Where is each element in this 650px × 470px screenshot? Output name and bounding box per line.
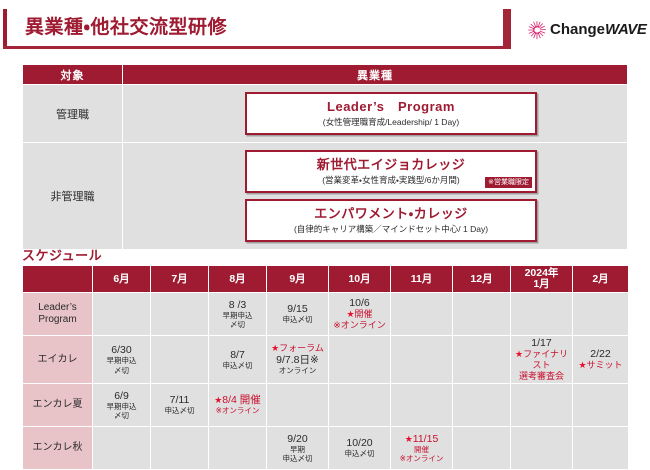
schedule-row-label-3: エンカレ秋	[23, 427, 93, 470]
schedule-col-9: 2月	[573, 266, 629, 293]
schedule-cell-note2: オンライン	[267, 366, 328, 376]
logo-wordmark: ChangeWAVE	[550, 20, 646, 40]
schedule-cell-2-7	[511, 384, 573, 427]
schedule-cell-3-1	[151, 427, 209, 470]
schedule-cell-1-0[interactable]: 6/30早期申込〆切	[93, 336, 151, 384]
schedule-cell-date: 8/7	[209, 349, 266, 361]
schedule-cell-0-0	[93, 293, 151, 336]
star-icon: ★	[271, 343, 279, 353]
schedule-cell-0-5	[391, 293, 453, 336]
schedule-cell-0-8	[573, 293, 629, 336]
schedule-cell-date: ★11/15	[391, 433, 452, 445]
table-header-row: 対象 異業種	[23, 65, 628, 85]
table-row: 管理職 Leader’s Program (女性管理職育成/Leadership…	[23, 85, 628, 143]
star-icon: ★	[515, 349, 523, 359]
schedule-cell-note: ※オンライン	[209, 406, 266, 416]
header-underline	[3, 46, 508, 49]
schedule-cell-note: 早期申込〆切	[267, 445, 328, 464]
logo-text-change: Change	[550, 21, 605, 38]
schedule-cell-note: ★開催※オンライン	[329, 309, 390, 331]
schedule-cell-2-8	[573, 384, 629, 427]
slide-root: 異業種・他社交流型研修	[0, 0, 650, 469]
schedule-cell-0-6	[453, 293, 511, 336]
schedule-cell-date: 9/7.8日※	[267, 354, 328, 366]
schedule-cell-1-7[interactable]: 1/17★ファイナリスト選考審査会	[511, 336, 573, 384]
schedule-cell-note: 早期申込〆切	[209, 311, 266, 330]
status-badge: ※営業職限定	[485, 177, 532, 188]
schedule-cell-2-5	[391, 384, 453, 427]
schedule-cell-3-6	[453, 427, 511, 470]
program-matrix-table: 対象 異業種 管理職 Leader’s Program (女性管理職育成/Lea…	[22, 64, 628, 250]
program-subtitle: (自律的キャリア構築／マインドセット中心/ 1 Day)	[251, 223, 531, 235]
schedule-cell-1-1	[151, 336, 209, 384]
schedule-cell-2-4	[329, 384, 391, 427]
slide-header: 異業種・他社交流型研修	[0, 0, 650, 57]
star-icon: ★	[346, 309, 354, 319]
schedule-cell-note: 申込〆切	[209, 361, 266, 371]
schedule-cell-2-1[interactable]: 7/11申込〆切	[151, 384, 209, 427]
schedule-cell-3-4[interactable]: 10/20申込〆切	[329, 427, 391, 470]
schedule-cell-3-2	[209, 427, 267, 470]
star-icon: ★	[405, 434, 413, 444]
schedule-cell-0-3[interactable]: 9/15申込〆切	[267, 293, 329, 336]
schedule-cell-0-1	[151, 293, 209, 336]
table-row: 非管理職 新世代エイジョカレッジ (営業変革・女性育成・実践型/6か月間) ※営…	[23, 143, 628, 250]
schedule-header-row: 6月7月8月9月10月11月12月2024年1月2月	[23, 266, 629, 293]
schedule-col-6: 11月	[391, 266, 453, 293]
schedule-cell-1-3[interactable]: ★フォーラム9/7.8日※オンライン	[267, 336, 329, 384]
page-title: 異業種・他社交流型研修	[25, 13, 485, 43]
program-card-empowerment-college[interactable]: エンパワメント・カレッジ (自律的キャリア構築／マインドセット中心/ 1 Day…	[245, 199, 537, 242]
schedule-cell-2-6	[453, 384, 511, 427]
schedule-cell-3-0	[93, 427, 151, 470]
schedule-cell-1-6	[453, 336, 511, 384]
schedule-cell-2-3	[267, 384, 329, 427]
matrix-programs-hikanrishoku: 新世代エイジョカレッジ (営業変革・女性育成・実践型/6か月間) ※営業職限定 …	[123, 143, 628, 250]
table-row: エンカレ秋9/20早期申込〆切10/20申込〆切★11/15開催※オンライン	[23, 427, 629, 470]
schedule-cell-date: 7/11	[151, 394, 208, 406]
schedule-cell-3-8	[573, 427, 629, 470]
program-subtitle: (女性管理職育成/Leadership/ 1 Day)	[251, 116, 531, 128]
header-left-accent-bar	[3, 9, 7, 47]
schedule-corner-cell	[23, 266, 93, 293]
schedule-table-wrap: 6月7月8月9月10月11月12月2024年1月2月 Leader’sProgr…	[22, 265, 628, 470]
schedule-cell-note: 申込〆切	[267, 315, 328, 325]
schedule-cell-date: 9/20	[267, 433, 328, 445]
matrix-col-industry: 異業種	[123, 65, 628, 85]
header-right-accent-bar	[503, 9, 511, 49]
program-matrix: 対象 異業種 管理職 Leader’s Program (女性管理職育成/Lea…	[22, 64, 628, 250]
schedule-cell-note: 早期申込〆切	[93, 402, 150, 421]
schedule-cell-1-2[interactable]: 8/7申込〆切	[209, 336, 267, 384]
table-row: Leader’sProgram8 /3早期申込〆切9/15申込〆切10/6★開催…	[23, 293, 629, 336]
schedule-cell-date: 8 /3	[209, 299, 266, 311]
program-title: エンパワメント・カレッジ	[251, 206, 531, 222]
logo-text-wave: WAVE	[605, 21, 646, 38]
matrix-target-kanrishoku: 管理職	[23, 85, 123, 143]
schedule-row-label-2: エンカレ夏	[23, 384, 93, 427]
matrix-col-target: 対象	[23, 65, 123, 85]
schedule-cell-0-7	[511, 293, 573, 336]
schedule-cell-note: 申込〆切	[329, 449, 390, 459]
schedule-body: Leader’sProgram8 /3早期申込〆切9/15申込〆切10/6★開催…	[23, 293, 629, 470]
schedule-cell-date: 10/6	[329, 297, 390, 309]
schedule-cell-note: 開催※オンライン	[391, 445, 452, 464]
schedule-cell-0-4[interactable]: 10/6★開催※オンライン	[329, 293, 391, 336]
schedule-cell-date: 2/22	[573, 348, 628, 360]
schedule-cell-note: ★フォーラム	[267, 343, 328, 354]
schedule-col-5: 10月	[329, 266, 391, 293]
program-title: 新世代エイジョカレッジ	[251, 157, 531, 173]
schedule-cell-date: ★8/4 開催	[209, 394, 266, 406]
schedule-section-title: スケジュール	[22, 245, 102, 264]
schedule-col-3: 8月	[209, 266, 267, 293]
schedule-col-2: 7月	[151, 266, 209, 293]
program-card-eijo-college[interactable]: 新世代エイジョカレッジ (営業変革・女性育成・実践型/6か月間) ※営業職限定	[245, 150, 537, 193]
schedule-cell-date: 6/9	[93, 390, 150, 402]
schedule-cell-date: 10/20	[329, 437, 390, 449]
program-title: Leader’s Program	[251, 99, 531, 115]
matrix-programs-kanrishoku: Leader’s Program (女性管理職育成/Leadership/ 1 …	[123, 85, 628, 143]
schedule-col-4: 9月	[267, 266, 329, 293]
schedule-cell-note: 早期申込〆切	[93, 356, 150, 375]
schedule-col-8: 2024年1月	[511, 266, 573, 293]
table-row: エイカレ6/30早期申込〆切8/7申込〆切★フォーラム9/7.8日※オンライン1…	[23, 336, 629, 384]
schedule-cell-date: 9/15	[267, 303, 328, 315]
schedule-table: 6月7月8月9月10月11月12月2024年1月2月 Leader’sProgr…	[22, 265, 629, 470]
table-row: エンカレ夏6/9早期申込〆切7/11申込〆切★8/4 開催※オンライン	[23, 384, 629, 427]
star-icon: ★	[214, 395, 222, 405]
schedule-cell-note: 申込〆切	[151, 406, 208, 416]
star-icon: ★	[578, 360, 586, 370]
schedule-cell-date: 6/30	[93, 344, 150, 356]
burst-icon	[527, 20, 547, 40]
schedule-cell-1-4	[329, 336, 391, 384]
schedule-cell-2-0[interactable]: 6/9早期申込〆切	[93, 384, 151, 427]
schedule-cell-3-3[interactable]: 9/20早期申込〆切	[267, 427, 329, 470]
schedule-cell-note: ★ファイナリスト選考審査会	[511, 349, 572, 382]
schedule-cell-1-5	[391, 336, 453, 384]
schedule-cell-0-2[interactable]: 8 /3早期申込〆切	[209, 293, 267, 336]
matrix-target-hikanrishoku: 非管理職	[23, 143, 123, 250]
program-card-leaders-program[interactable]: Leader’s Program (女性管理職育成/Leadership/ 1 …	[245, 92, 537, 135]
schedule-cell-3-7	[511, 427, 573, 470]
schedule-cell-date: 1/17	[511, 337, 572, 349]
schedule-cell-3-5[interactable]: ★11/15開催※オンライン	[391, 427, 453, 470]
schedule-cell-2-2[interactable]: ★8/4 開催※オンライン	[209, 384, 267, 427]
schedule-row-label-1: エイカレ	[23, 336, 93, 384]
schedule-col-7: 12月	[453, 266, 511, 293]
schedule-col-1: 6月	[93, 266, 151, 293]
schedule-cell-1-8[interactable]: 2/22★サミット	[573, 336, 629, 384]
schedule-row-label-0: Leader’sProgram	[23, 293, 93, 336]
changewave-logo: ChangeWAVE	[527, 18, 645, 44]
schedule-cell-note: ★サミット	[573, 360, 628, 371]
